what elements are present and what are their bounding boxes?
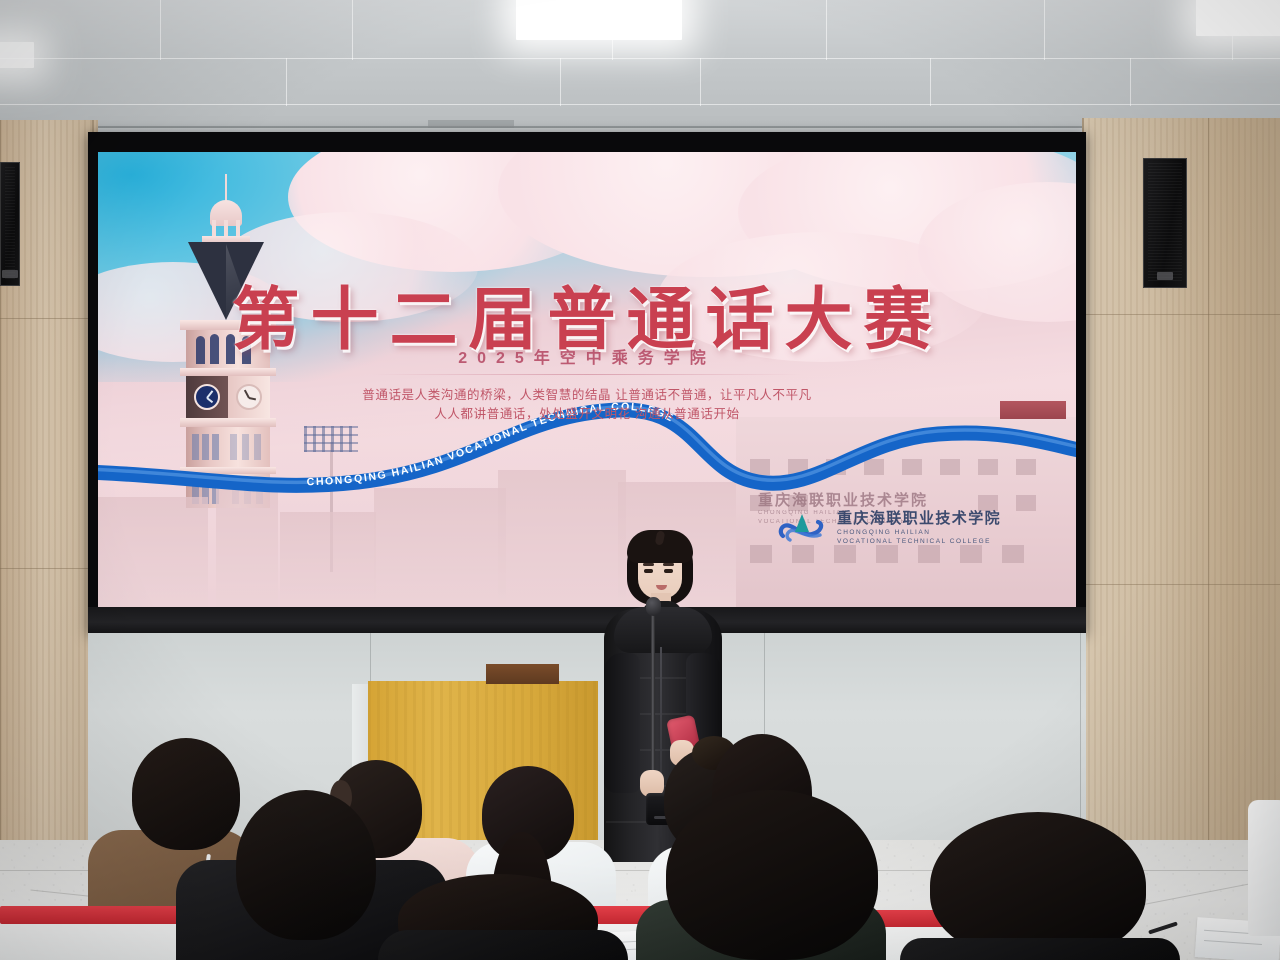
attendee-dark-green-head — [666, 790, 878, 960]
ceiling-light-left — [0, 42, 34, 68]
attendee-short-hair-right-body — [900, 938, 1180, 960]
presenter-eye-left — [644, 569, 653, 573]
college-name-cn: 重庆海联职业技术学院 — [837, 507, 1001, 528]
campus-building — [216, 482, 278, 607]
led-screen[interactable]: 重庆海联职业技术学院 CHONGQING HAILIAN VOCATIONAL … — [98, 152, 1076, 607]
microphone-body — [651, 609, 655, 781]
college-logo-lockup: 重庆海联职业技术学院 CHONGQING HAILIAN VOCATIONAL … — [776, 507, 1001, 546]
microphone-head — [646, 597, 661, 616]
campus-building — [280, 512, 376, 607]
wall-speaker-left — [0, 162, 20, 286]
ceiling-light-center — [516, 0, 682, 40]
poster-slogan: 普通话是人类沟通的桥梁，人类智慧的结晶 让普通话不普通，让平凡人不平凡 人人都讲… — [98, 386, 1076, 424]
attendee-brown-coat-head — [132, 738, 240, 850]
poster-divider — [372, 374, 802, 375]
led-screen-bezel-bottom — [88, 607, 1086, 635]
lecture-hall-photo: 重庆海联职业技术学院 CHONGQING HAILIAN VOCATIONAL … — [0, 0, 1280, 960]
attendee-center-long-hair-body — [378, 930, 628, 960]
wall-speaker-right — [1143, 158, 1187, 288]
ceiling-vent — [428, 120, 514, 128]
presenter-hood — [614, 607, 712, 653]
presenter-eye-right — [664, 569, 673, 573]
stadium-light-head — [304, 426, 358, 452]
campus-building — [98, 497, 208, 607]
college-logo-icon — [776, 510, 828, 544]
chair — [1248, 800, 1280, 936]
poster-subtitle: 2025年空中乘务学院 — [98, 344, 1076, 368]
attendee-black-jacket-head — [236, 790, 376, 940]
poster-slogan-line-1: 普通话是人类沟通的桥梁，人类智慧的结晶 让普通话不普通，让平凡人不平凡 — [98, 386, 1076, 405]
campus-building — [374, 488, 506, 607]
presenter-arm-left — [604, 653, 640, 793]
presenter-coat-zipper — [660, 647, 662, 859]
college-name-en-2: VOCATIONAL TECHNICAL COLLEGE — [837, 537, 1001, 546]
lectern-top-panel — [486, 664, 559, 684]
ceiling-light-right — [1196, 0, 1280, 36]
ceiling — [0, 0, 1280, 132]
college-name-en-1: CHONGQING HAILIAN — [837, 528, 1001, 537]
poster-slogan-line-2: 人人都讲普通话，处处盛开文明花 沟通从普通话开始 — [98, 405, 1076, 424]
